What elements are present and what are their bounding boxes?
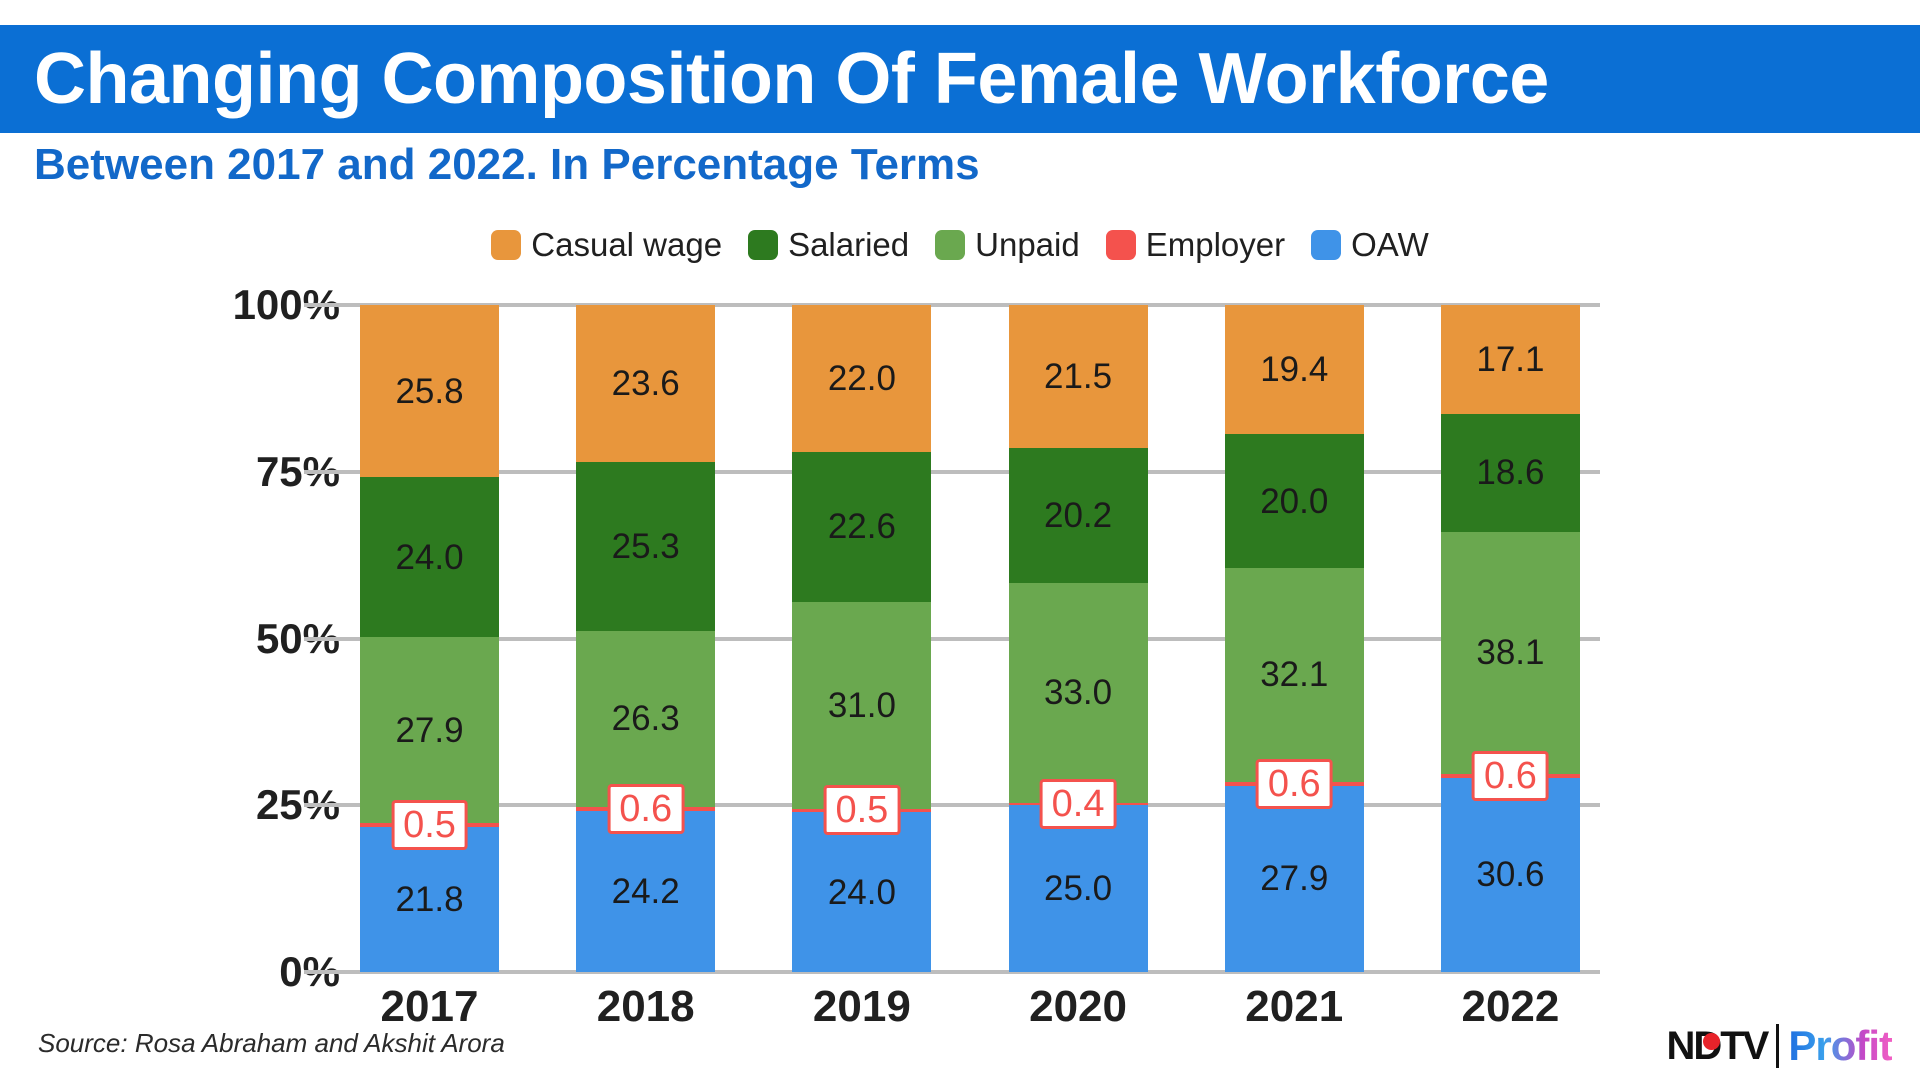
- legend-label: OAW: [1351, 228, 1429, 261]
- bar-segment-unpaid[interactable]: 31.0: [792, 602, 931, 809]
- bar-value-label: 21.8: [395, 882, 463, 917]
- bar-segment-salaried[interactable]: 18.6: [1441, 414, 1580, 532]
- legend-label: Unpaid: [975, 228, 1080, 261]
- bar-segment-casual-wage[interactable]: 19.4: [1225, 305, 1364, 434]
- bar-segment-oaw[interactable]: 25.0: [1009, 805, 1148, 972]
- logo-divider: [1776, 1024, 1779, 1068]
- bar-value-label: 32.1: [1260, 657, 1328, 692]
- legend-label: Casual wage: [531, 228, 722, 261]
- legend-item-unpaid[interactable]: Unpaid: [935, 228, 1080, 261]
- legend-swatch-icon: [748, 230, 778, 260]
- bar-segment-unpaid[interactable]: 32.1: [1225, 568, 1364, 782]
- page-subtitle: Between 2017 and 2022. In Percentage Ter…: [34, 143, 980, 187]
- title-banner: Changing Composition Of Female Workforce: [0, 25, 1920, 133]
- bar-segment-oaw[interactable]: 24.0: [792, 812, 931, 972]
- source-note: Source: Rosa Abraham and Akshit Arora: [38, 1030, 505, 1056]
- chart-legend: Casual wageSalariedUnpaidEmployerOAW: [0, 228, 1920, 261]
- bar-segment-salaried[interactable]: 20.0: [1225, 434, 1364, 567]
- legend-label: Employer: [1146, 228, 1285, 261]
- bar-segment-casual-wage[interactable]: 21.5: [1009, 305, 1148, 448]
- legend-swatch-icon: [935, 230, 965, 260]
- bar-value-label: 25.0: [1044, 871, 1112, 906]
- bar-value-label: 24.2: [612, 874, 680, 909]
- bar-segment-casual-wage[interactable]: 25.8: [360, 305, 499, 477]
- bar-segment-casual-wage[interactable]: 17.1: [1441, 305, 1580, 414]
- x-axis-tick-label: 2019: [792, 985, 931, 1029]
- bar-value-label: 38.1: [1476, 635, 1544, 670]
- legend-swatch-icon: [1311, 230, 1341, 260]
- bar-segment-salaried[interactable]: 25.3: [576, 462, 715, 631]
- x-axis: 201720182019202020212022: [360, 985, 1580, 1029]
- legend-item-salaried[interactable]: Salaried: [748, 228, 909, 261]
- x-axis-tick-label: 2018: [576, 985, 715, 1029]
- bar-value-label: 20.0: [1260, 484, 1328, 519]
- legend-swatch-icon: [1106, 230, 1136, 260]
- bar-column-2017[interactable]: 25.824.027.90.521.8: [360, 305, 499, 972]
- x-axis-tick-label: 2021: [1225, 985, 1364, 1029]
- legend-label: Salaried: [788, 228, 909, 261]
- bar-value-label: 27.9: [395, 713, 463, 748]
- legend-swatch-icon: [491, 230, 521, 260]
- bar-column-2022[interactable]: 17.118.638.10.630.6: [1441, 305, 1580, 972]
- bar-value-label: 30.6: [1476, 857, 1544, 892]
- bar-segment-salaried[interactable]: 24.0: [360, 477, 499, 637]
- bar-column-2018[interactable]: 23.625.326.30.624.2: [576, 305, 715, 972]
- bar-segment-casual-wage[interactable]: 22.0: [792, 305, 931, 452]
- bar-value-label: 17.1: [1476, 342, 1544, 377]
- bar-value-label: 19.4: [1260, 352, 1328, 387]
- x-axis-tick-label: 2022: [1441, 985, 1580, 1029]
- bar-value-label: 23.6: [612, 366, 680, 401]
- bar-value-label: 22.6: [828, 509, 896, 544]
- bar-value-label: 24.0: [828, 875, 896, 910]
- ndtv-profit-logo: NDTV Profit: [1666, 1021, 1892, 1071]
- bar-value-label: 25.3: [612, 529, 680, 564]
- bar-segment-oaw[interactable]: 21.8: [360, 827, 499, 972]
- bar-segment-oaw[interactable]: 30.6: [1441, 778, 1580, 972]
- bar-segment-unpaid[interactable]: 33.0: [1009, 583, 1148, 803]
- bar-value-label: 25.8: [395, 374, 463, 409]
- bar-segment-casual-wage[interactable]: 23.6: [576, 305, 715, 462]
- bar-segment-oaw[interactable]: 24.2: [576, 811, 715, 972]
- bar-value-label: 31.0: [828, 688, 896, 723]
- plot-area: 25.824.027.90.521.823.625.326.30.624.222…: [360, 305, 1580, 972]
- legend-item-casual-wage[interactable]: Casual wage: [491, 228, 722, 261]
- bar-value-label: 33.0: [1044, 675, 1112, 710]
- bar-column-2019[interactable]: 22.022.631.00.524.0: [792, 305, 931, 972]
- bar-segment-salaried[interactable]: 22.6: [792, 452, 931, 603]
- bar-value-label: 18.6: [1476, 455, 1544, 490]
- bar-value-label: 22.0: [828, 361, 896, 396]
- bar-value-label: 27.9: [1260, 861, 1328, 896]
- bar-group: 25.824.027.90.521.823.625.326.30.624.222…: [360, 305, 1580, 972]
- bar-column-2021[interactable]: 19.420.032.10.627.9: [1225, 305, 1364, 972]
- legend-item-employer[interactable]: Employer: [1106, 228, 1285, 261]
- bar-segment-unpaid[interactable]: 38.1: [1441, 532, 1580, 774]
- bar-value-label: 21.5: [1044, 359, 1112, 394]
- bar-segment-salaried[interactable]: 20.2: [1009, 448, 1148, 583]
- bar-segment-unpaid[interactable]: 27.9: [360, 637, 499, 823]
- bar-column-2020[interactable]: 21.520.233.00.425.0: [1009, 305, 1148, 972]
- bar-value-label: 26.3: [612, 701, 680, 736]
- bar-segment-oaw[interactable]: 27.9: [1225, 786, 1364, 972]
- x-axis-tick-label: 2017: [360, 985, 499, 1029]
- x-axis-tick-label: 2020: [1009, 985, 1148, 1029]
- bar-value-label: 24.0: [395, 540, 463, 575]
- bar-value-label: 20.2: [1044, 498, 1112, 533]
- legend-item-oaw[interactable]: OAW: [1311, 228, 1429, 261]
- bar-segment-unpaid[interactable]: 26.3: [576, 631, 715, 806]
- logo-profit-text: Profit: [1788, 1025, 1892, 1067]
- page-title: Changing Composition Of Female Workforce: [0, 43, 1549, 115]
